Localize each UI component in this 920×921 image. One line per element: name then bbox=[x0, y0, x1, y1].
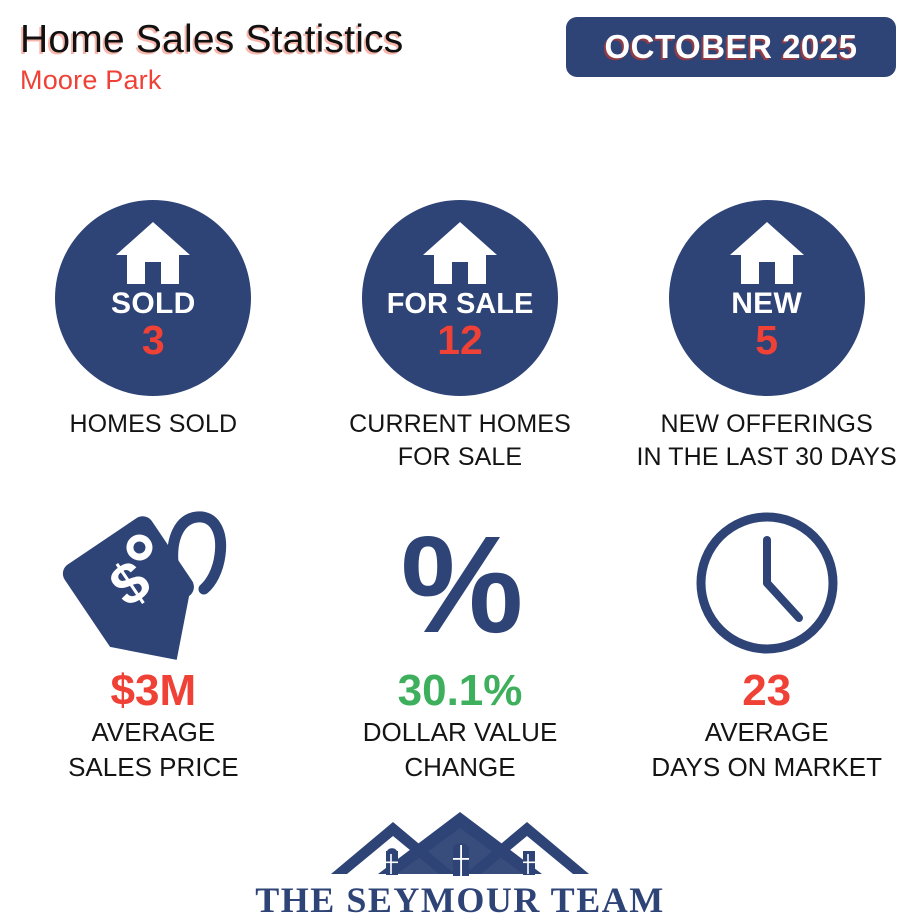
sold-circle-badge: SOLD 3 bbox=[55, 200, 251, 396]
clock-icon bbox=[692, 508, 842, 663]
stats-row-top: SOLD 3 HOMES SOLD FOR SALE 12 CURRENT HO… bbox=[0, 200, 920, 474]
for-sale-badge-number: 12 bbox=[437, 319, 483, 361]
page-title: Home Sales Statistics bbox=[20, 18, 404, 62]
days-on-market-value: 23 bbox=[742, 667, 791, 715]
clock-icon-slot bbox=[692, 505, 842, 665]
percent-icon: % bbox=[401, 516, 520, 654]
percent-icon-slot: % bbox=[401, 505, 520, 665]
average-sales-price-value: $3M bbox=[111, 667, 197, 715]
price-tag-icon-slot: $ bbox=[61, 505, 245, 665]
days-on-market-caption: AVERAGE DAYS ON MARKET bbox=[651, 715, 882, 785]
new-badge-number: 5 bbox=[755, 319, 778, 361]
month-badge-label: OCTOBER 2025 bbox=[605, 28, 858, 66]
three-roofs-icon bbox=[327, 812, 593, 883]
for-sale-badge-word: FOR SALE bbox=[387, 288, 534, 320]
title-block: Home Sales Statistics Moore Park bbox=[20, 18, 404, 96]
stat-card-average-sales-price: $ $3M AVERAGE SALES PRICE bbox=[0, 505, 307, 785]
stat-card-for-sale: FOR SALE 12 CURRENT HOMES FOR SALE bbox=[307, 200, 614, 474]
stats-row-bottom: $ $3M AVERAGE SALES PRICE % 30.1% DOLLAR… bbox=[0, 505, 920, 785]
for-sale-circle-badge: FOR SALE 12 bbox=[362, 200, 558, 396]
current-homes-for-sale-caption: CURRENT HOMES FOR SALE bbox=[349, 408, 571, 474]
brand-name: THE SEYMOUR TEAM bbox=[255, 881, 664, 919]
new-circle-badge: NEW 5 bbox=[669, 200, 865, 396]
stat-card-dollar-value-change: % 30.1% DOLLAR VALUE CHANGE bbox=[307, 505, 614, 785]
brand-logo: THE SEYMOUR TEAM bbox=[0, 812, 920, 919]
stat-card-new-offerings: NEW 5 NEW OFFERINGS IN THE LAST 30 DAYS bbox=[613, 200, 920, 474]
new-offerings-caption: NEW OFFERINGS IN THE LAST 30 DAYS bbox=[637, 408, 897, 474]
house-icon bbox=[423, 222, 497, 286]
dollar-value-change-value: 30.1% bbox=[398, 667, 523, 715]
sold-badge-number: 3 bbox=[142, 319, 165, 361]
month-badge: OCTOBER 2025 bbox=[566, 17, 896, 77]
stat-card-homes-sold: SOLD 3 HOMES SOLD bbox=[0, 200, 307, 474]
dollar-value-change-caption: DOLLAR VALUE CHANGE bbox=[363, 715, 558, 785]
homes-sold-caption: HOMES SOLD bbox=[69, 408, 237, 441]
page-subtitle: Moore Park bbox=[20, 64, 404, 96]
header: Home Sales Statistics Moore Park OCTOBER… bbox=[0, 0, 920, 120]
average-sales-price-caption: AVERAGE SALES PRICE bbox=[68, 715, 239, 785]
price-tag-icon: $ bbox=[61, 505, 245, 666]
house-icon bbox=[730, 222, 804, 286]
house-icon bbox=[116, 222, 190, 286]
new-badge-word: NEW bbox=[731, 288, 802, 320]
stat-card-days-on-market: 23 AVERAGE DAYS ON MARKET bbox=[613, 505, 920, 785]
sold-badge-word: SOLD bbox=[111, 288, 196, 320]
